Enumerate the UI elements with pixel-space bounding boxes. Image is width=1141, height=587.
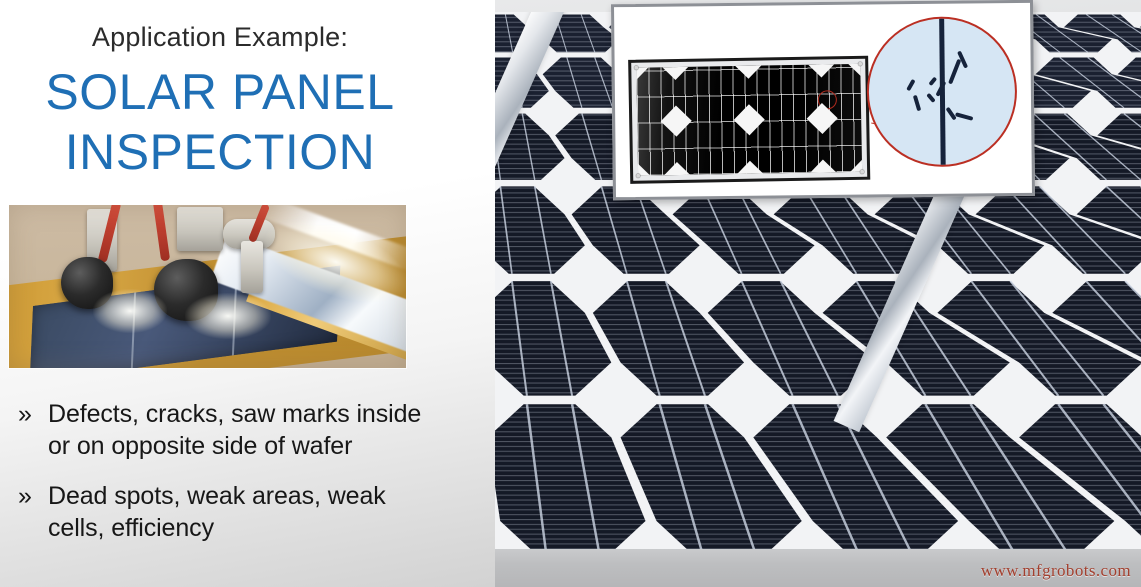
bullet-marker-icon: » xyxy=(18,398,32,430)
slide-canvas: Application Example: SOLAR PANEL INSPECT… xyxy=(0,0,1141,587)
list-item-text: Dead spots, weak areas, weak cells, effi… xyxy=(48,482,386,542)
crack-fleck-1 xyxy=(906,79,915,91)
left-text-panel: Application Example: SOLAR PANEL INSPECT… xyxy=(0,0,495,587)
el-cell-chamfer-bottom xyxy=(664,162,690,175)
machinery-photo xyxy=(9,205,406,368)
list-item-text: Defects, cracks, saw marks inside or on … xyxy=(48,400,421,460)
screw-icon xyxy=(636,174,640,178)
list-item: » Dead spots, weak areas, weak cells, ef… xyxy=(18,480,438,544)
el-cell-chamfer-top xyxy=(636,68,648,81)
el-cell-chamfer-top xyxy=(735,66,761,79)
crack-fleck-3 xyxy=(928,77,937,86)
screw-icon xyxy=(860,170,864,174)
inspection-inset-card xyxy=(611,0,1035,200)
magnified-crack-detail xyxy=(866,16,1018,168)
el-image-cells xyxy=(636,64,862,176)
page-title-line-2: INSPECTION xyxy=(0,122,440,182)
watermark-text: www.mfgrobots.com xyxy=(981,561,1131,581)
crack-branch-5 xyxy=(955,112,973,121)
bullet-marker-icon: » xyxy=(18,480,32,512)
photo-vignette xyxy=(9,205,406,368)
el-cell-chamfer-bottom xyxy=(810,159,836,172)
el-cell-chamfer-top xyxy=(808,64,834,77)
crack-fleck-2 xyxy=(913,95,921,111)
el-cell-chamfer-bottom xyxy=(737,161,763,174)
crack-fleck-4 xyxy=(926,93,936,103)
bullet-list: » Defects, cracks, saw marks inside or o… xyxy=(18,398,438,562)
eyebrow-label: Application Example: xyxy=(0,22,440,53)
list-item: » Defects, cracks, saw marks inside or o… xyxy=(18,398,438,462)
crack-branch-1 xyxy=(948,59,961,85)
screw-icon xyxy=(634,66,638,70)
screw-icon xyxy=(858,62,862,66)
el-image-thumbnail xyxy=(628,56,870,184)
page-title-line-1: SOLAR PANEL xyxy=(45,64,394,120)
page-title: SOLAR PANEL INSPECTION xyxy=(0,62,440,182)
el-cell-chamfer-top xyxy=(662,67,688,80)
